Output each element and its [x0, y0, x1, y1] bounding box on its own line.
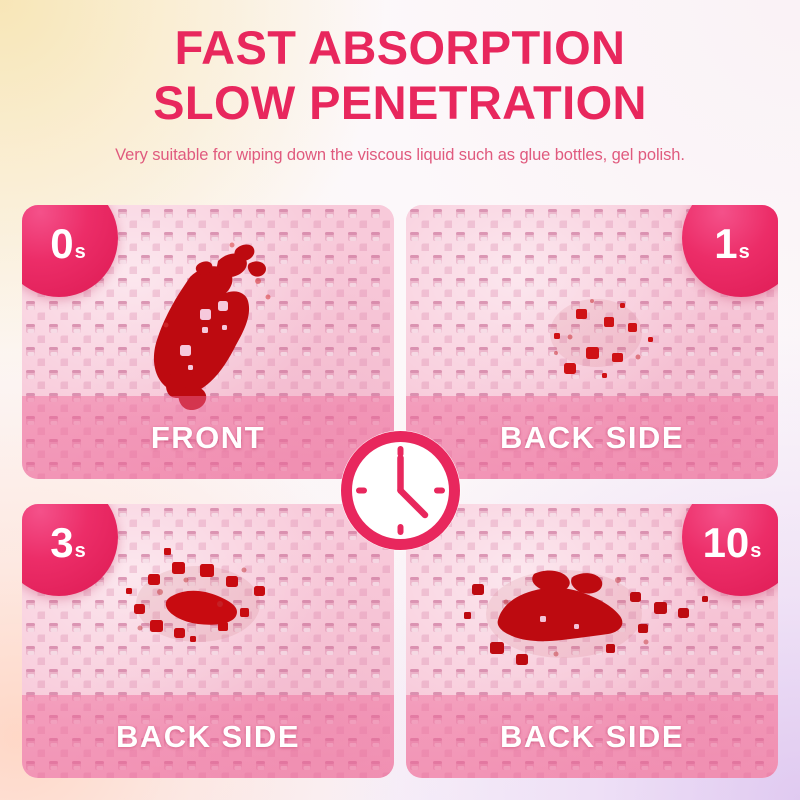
page-title-line-1: FAST ABSORPTION — [0, 20, 800, 75]
product-infographic-poster: FAST ABSORPTION SLOW PENETRATION Very su… — [0, 0, 800, 800]
caption-text-3s: BACK SIDE — [116, 719, 300, 755]
time-badge-value-1s: 1 — [714, 223, 737, 265]
time-badge-text-1s: 1s — [714, 223, 749, 265]
page-title-line-2: SLOW PENETRATION — [0, 75, 800, 130]
time-badge-text-3s: 3s — [50, 522, 85, 564]
time-badge-unit-10s: s — [750, 541, 761, 561]
time-badge-text-10s: 10s — [703, 522, 762, 564]
page-subtitle: Very suitable for wiping down the viscou… — [0, 144, 800, 166]
time-badge-value-0s: 0 — [50, 223, 73, 265]
time-badge-unit-3s: s — [75, 541, 86, 561]
time-badge-text-0s: 0s — [50, 223, 85, 265]
time-badge-value-10s: 10 — [703, 522, 750, 564]
clock-icon — [337, 427, 464, 554]
time-badge-unit-0s: s — [75, 242, 86, 262]
caption-text-1s: BACK SIDE — [500, 420, 684, 456]
caption-text-0s: FRONT — [151, 420, 265, 456]
time-badge-unit-1s: s — [739, 242, 750, 262]
time-badge-value-3s: 3 — [50, 522, 73, 564]
caption-band-3s: BACK SIDE — [22, 695, 394, 778]
caption-text-10s: BACK SIDE — [500, 719, 684, 755]
caption-band-10s: BACK SIDE — [406, 695, 778, 778]
header: FAST ABSORPTION SLOW PENETRATION Very su… — [0, 0, 800, 166]
